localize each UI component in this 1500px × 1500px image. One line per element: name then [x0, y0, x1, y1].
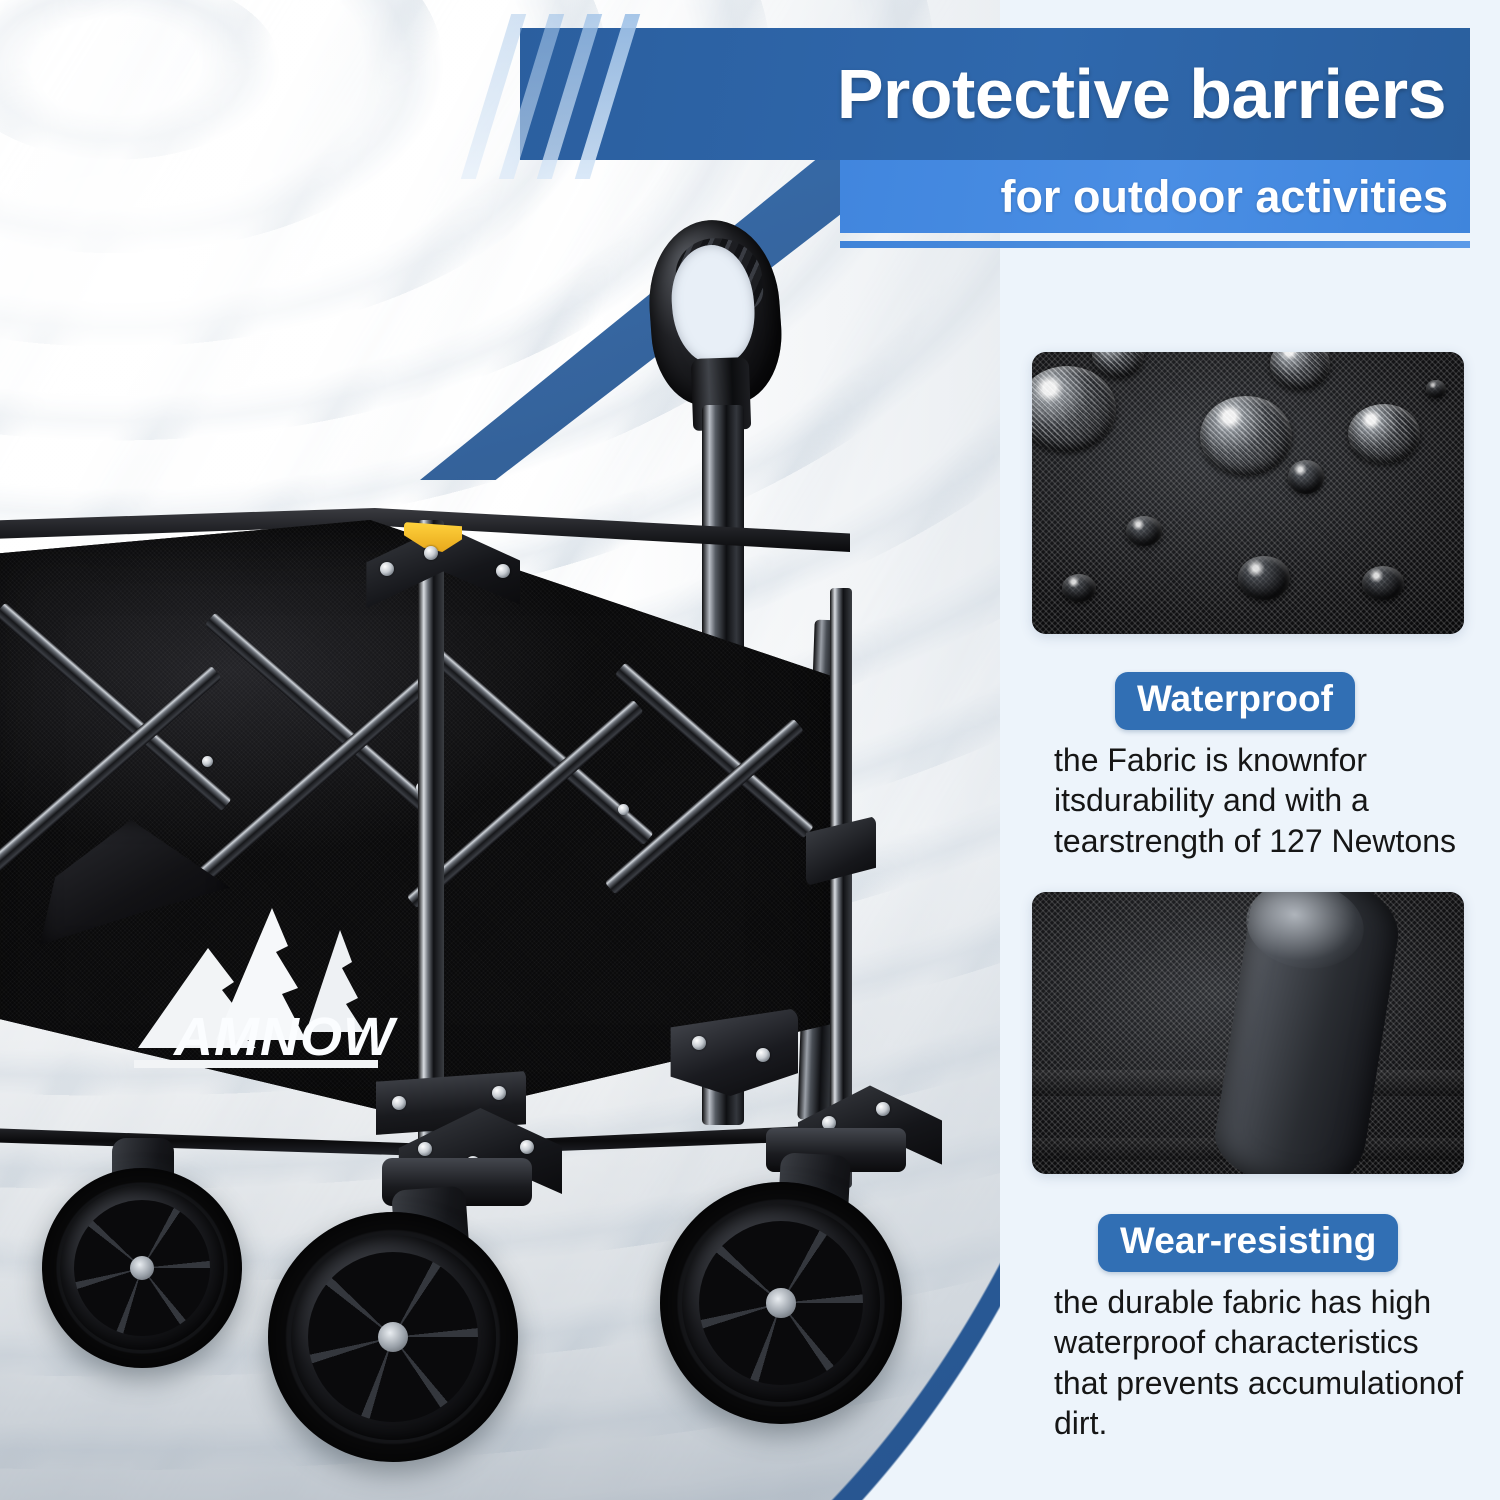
- frame-rivet: [202, 756, 213, 767]
- water-droplet: [1362, 566, 1404, 600]
- status-badge-wear-resisting: Wear-resisting: [1098, 1214, 1398, 1272]
- frame-bar: [614, 662, 814, 839]
- wear-resisting-description: the durable fabric has high waterproof c…: [1054, 1282, 1472, 1443]
- bracket-rivet: [876, 1102, 890, 1116]
- wheel-hub: [378, 1322, 408, 1352]
- waterproof-fabric-photo: [1032, 352, 1464, 634]
- water-droplet: [1126, 516, 1162, 546]
- folding-wagon-product: AMNOW: [0, 190, 960, 1500]
- water-droplet: [1200, 396, 1292, 476]
- wheel-hub: [130, 1256, 154, 1280]
- bracket-rivet: [756, 1048, 770, 1062]
- header-diagonal-stripes: [480, 28, 720, 160]
- bracket-rivet: [492, 1086, 506, 1100]
- bracket-rivet: [380, 562, 394, 576]
- bracket-rivet: [392, 1096, 406, 1110]
- brand-wordmark: AMNOW: [174, 1006, 395, 1068]
- water-droplet: [1238, 556, 1290, 600]
- status-badge-waterproof: Waterproof: [1115, 672, 1355, 730]
- frame-bar: [204, 612, 442, 822]
- frame-bar: [416, 636, 654, 846]
- wheel-hub: [766, 1288, 795, 1317]
- header-underline: [840, 241, 1470, 248]
- page-subtitle: for outdoor activities: [840, 160, 1470, 233]
- frame-rivet: [618, 804, 629, 815]
- brand-logo: AMNOW: [130, 890, 390, 1080]
- water-droplet: [1288, 460, 1324, 494]
- bracket-rivet: [496, 564, 510, 578]
- bracket-rivet: [424, 546, 438, 560]
- wagon-wheel-rear-left: [42, 1168, 242, 1368]
- wear-resisting-fabric-photo: [1032, 892, 1464, 1174]
- bracket-rivet: [520, 1140, 534, 1154]
- bracket-rivet: [692, 1036, 706, 1050]
- water-droplet: [1062, 574, 1096, 602]
- product-marketing-image: AMNOW: [0, 0, 1500, 1500]
- photo-bottom-fade: [0, 1380, 1000, 1500]
- frame-bar: [0, 602, 232, 812]
- bracket-rivet: [418, 1142, 432, 1156]
- water-droplet: [1426, 380, 1446, 398]
- features-column: Protective barriers for outdoor activiti…: [1000, 0, 1500, 1500]
- water-droplet: [1348, 404, 1420, 464]
- waterproof-description: the Fabric is knownfor itsdurability and…: [1054, 740, 1472, 861]
